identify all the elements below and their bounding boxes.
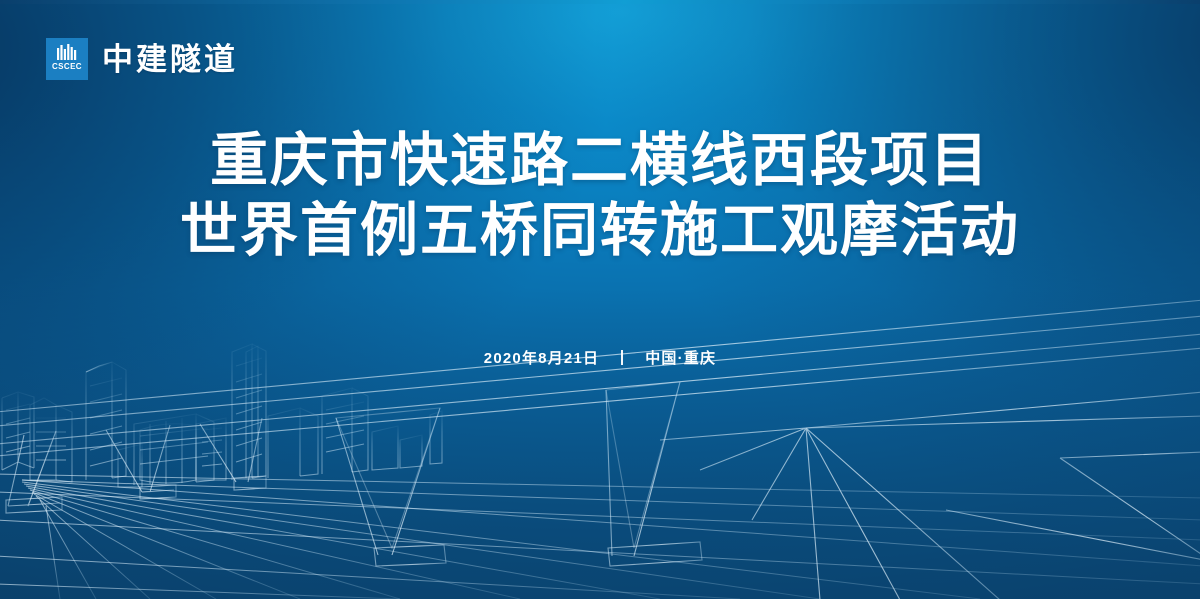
wireframe-artwork [0,0,1200,599]
meta-separator [621,350,623,365]
bridge-deck-wireframe [0,300,1200,456]
svg-text:CSCEC: CSCEC [52,62,82,71]
poster-meta-row: 2020年8月21日 中国·重庆 [0,347,1200,368]
event-date: 2020年8月21日 [484,347,599,368]
headline-line-1: 重庆市快速路二横线西段项目 [0,126,1200,196]
event-location: 中国·重庆 [645,347,716,368]
roadway-perspective-lines [0,474,1200,599]
headline-line-2: 世界首例五桥同转施工观摩活动 [0,196,1200,266]
brand-lockup: CSCEC 中建隧道 [46,38,238,80]
cscec-logo-mark-icon: CSCEC [46,38,88,80]
poster-headline: 重庆市快速路二横线西段项目 世界首例五桥同转施工观摩活动 [0,126,1200,266]
brand-wordmark: 中建隧道 [102,44,238,75]
poster-canvas: CSCEC 中建隧道 重庆市快速路二横线西段项目 世界首例五桥同转施工观摩活动 … [0,0,1200,599]
